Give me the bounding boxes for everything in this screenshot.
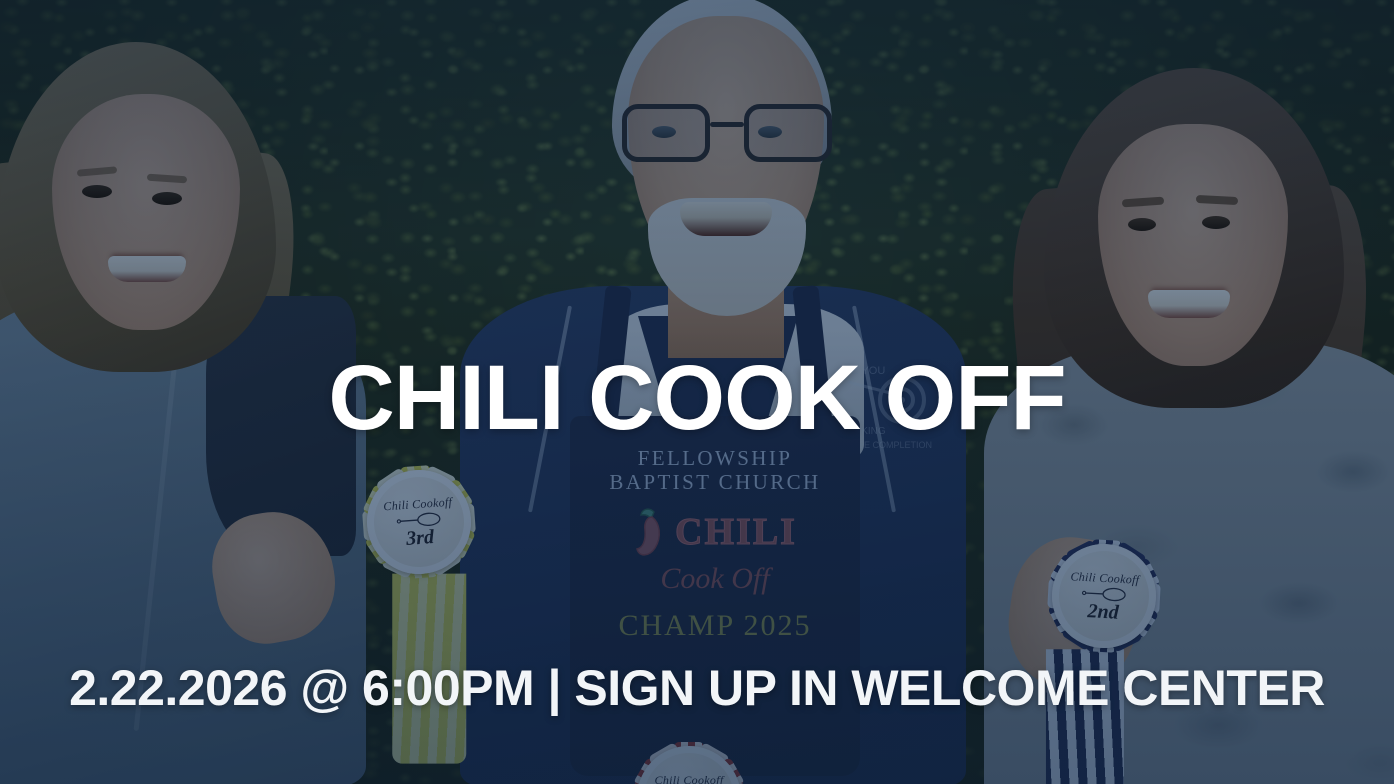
- event-headline: CHILI COOK OFF: [0, 352, 1394, 444]
- text-overlay: CHILI COOK OFF 2.22.2026 @ 6:00PM | SIGN…: [0, 0, 1394, 784]
- chili-cook-off-promo-graphic: ARE YOU TRACKING DEGREE COMPLETION FELLO…: [0, 0, 1394, 784]
- event-details-line: 2.22.2026 @ 6:00PM | SIGN UP IN WELCOME …: [0, 663, 1394, 713]
